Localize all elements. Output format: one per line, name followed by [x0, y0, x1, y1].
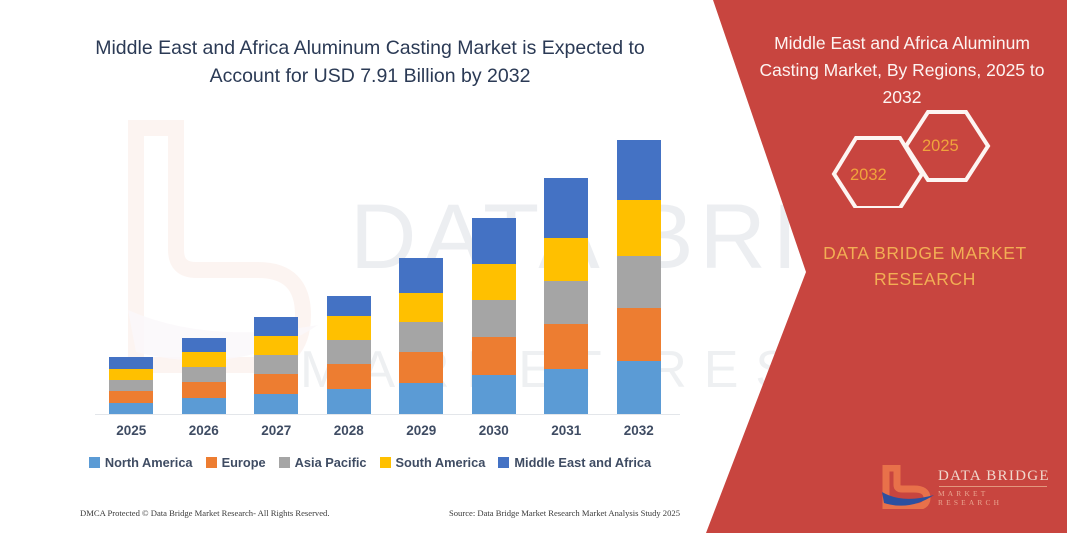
segment-asia-pacific — [544, 281, 588, 324]
bar-2029[interactable] — [399, 258, 443, 415]
segment-europe — [617, 308, 661, 361]
footer: DMCA Protected © Data Bridge Market Rese… — [80, 508, 680, 518]
x-label-2026: 2026 — [169, 423, 239, 438]
chart-legend: North AmericaEuropeAsia PacificSouth Ame… — [60, 455, 680, 470]
legend-swatch-icon — [279, 457, 290, 468]
bar-2025[interactable] — [109, 357, 153, 415]
segment-south-america — [182, 352, 226, 367]
segment-europe — [109, 391, 153, 403]
footer-copyright: DMCA Protected © Data Bridge Market Rese… — [80, 508, 330, 518]
legend-swatch-icon — [498, 457, 509, 468]
segment-asia-pacific — [472, 300, 516, 337]
segment-north-america — [399, 383, 443, 415]
segment-middle-east-and-africa — [327, 296, 371, 316]
segment-middle-east-and-africa — [182, 338, 226, 352]
x-label-2032: 2032 — [604, 423, 674, 438]
segment-europe — [254, 374, 298, 394]
segment-asia-pacific — [399, 322, 443, 352]
logo-secondary-text: MARKET RESEARCH — [938, 489, 1055, 507]
chart-title: Middle East and Africa Aluminum Casting … — [60, 34, 680, 90]
segment-middle-east-and-africa — [472, 218, 516, 264]
stacked-bar-chart — [95, 120, 675, 415]
segment-north-america — [617, 361, 661, 415]
segment-asia-pacific — [617, 256, 661, 308]
legend-label: Middle East and Africa — [514, 455, 651, 470]
hexagon-outlines-icon — [820, 108, 1010, 208]
bar-2031[interactable] — [544, 178, 588, 415]
infographic-canvas: DATA BRIDGE MARKET RESEARCH Middle East … — [0, 0, 1067, 533]
panel-brand-name: DATA BRIDGE MARKET RESEARCH — [790, 240, 1060, 292]
segment-north-america — [182, 398, 226, 415]
legend-item-south-america[interactable]: South America — [380, 455, 486, 470]
x-label-2027: 2027 — [241, 423, 311, 438]
bar-2028[interactable] — [327, 296, 371, 415]
segment-north-america — [544, 369, 588, 415]
x-label-2028: 2028 — [314, 423, 384, 438]
bar-2030[interactable] — [472, 218, 516, 415]
legend-label: Asia Pacific — [295, 455, 367, 470]
segment-europe — [327, 364, 371, 389]
segment-north-america — [254, 394, 298, 415]
legend-item-europe[interactable]: Europe — [206, 455, 266, 470]
segment-south-america — [472, 264, 516, 300]
segment-middle-east-and-africa — [544, 178, 588, 238]
segment-asia-pacific — [327, 340, 371, 364]
data-bridge-mark-icon — [880, 465, 936, 509]
x-label-2025: 2025 — [96, 423, 166, 438]
legend-item-asia-pacific[interactable]: Asia Pacific — [279, 455, 367, 470]
bar-2027[interactable] — [254, 317, 298, 415]
x-label-2031: 2031 — [531, 423, 601, 438]
segment-middle-east-and-africa — [617, 140, 661, 200]
bar-2032[interactable] — [617, 140, 661, 415]
segment-europe — [399, 352, 443, 383]
segment-south-america — [399, 293, 443, 322]
hexagon-2025-label: 2025 — [922, 137, 959, 156]
segment-europe — [544, 324, 588, 369]
data-bridge-logo: DATA BRIDGE MARKET RESEARCH — [880, 465, 1055, 511]
legend-item-middle-east-and-africa[interactable]: Middle East and Africa — [498, 455, 651, 470]
hexagon-2032-label: 2032 — [850, 166, 887, 185]
hexagon-group: 2025 2032 — [820, 108, 1010, 208]
segment-middle-east-and-africa — [109, 357, 153, 369]
segment-south-america — [617, 200, 661, 256]
segment-south-america — [254, 336, 298, 355]
legend-label: South America — [396, 455, 486, 470]
legend-item-north-america[interactable]: North America — [89, 455, 193, 470]
legend-swatch-icon — [206, 457, 217, 468]
x-label-2029: 2029 — [386, 423, 456, 438]
segment-north-america — [472, 375, 516, 415]
logo-divider — [939, 486, 1047, 487]
legend-label: Europe — [222, 455, 266, 470]
x-axis-labels: 20252026202720282029203020312032 — [95, 423, 675, 445]
segment-europe — [182, 382, 226, 398]
x-label-2030: 2030 — [459, 423, 529, 438]
segment-south-america — [327, 316, 371, 340]
segment-middle-east-and-africa — [399, 258, 443, 293]
segment-north-america — [327, 389, 371, 415]
segment-asia-pacific — [182, 367, 226, 382]
segment-south-america — [109, 369, 153, 380]
segment-asia-pacific — [254, 355, 298, 374]
panel-title: Middle East and Africa Aluminum Casting … — [752, 30, 1052, 111]
segment-south-america — [544, 238, 588, 281]
legend-label: North America — [105, 455, 193, 470]
x-axis-line — [95, 414, 680, 415]
segment-asia-pacific — [109, 380, 153, 391]
logo-primary-text: DATA BRIDGE — [938, 468, 1055, 485]
segment-europe — [472, 337, 516, 375]
bar-2026[interactable] — [182, 338, 226, 415]
legend-swatch-icon — [380, 457, 391, 468]
legend-swatch-icon — [89, 457, 100, 468]
footer-source: Source: Data Bridge Market Research Mark… — [449, 508, 680, 518]
segment-middle-east-and-africa — [254, 317, 298, 336]
